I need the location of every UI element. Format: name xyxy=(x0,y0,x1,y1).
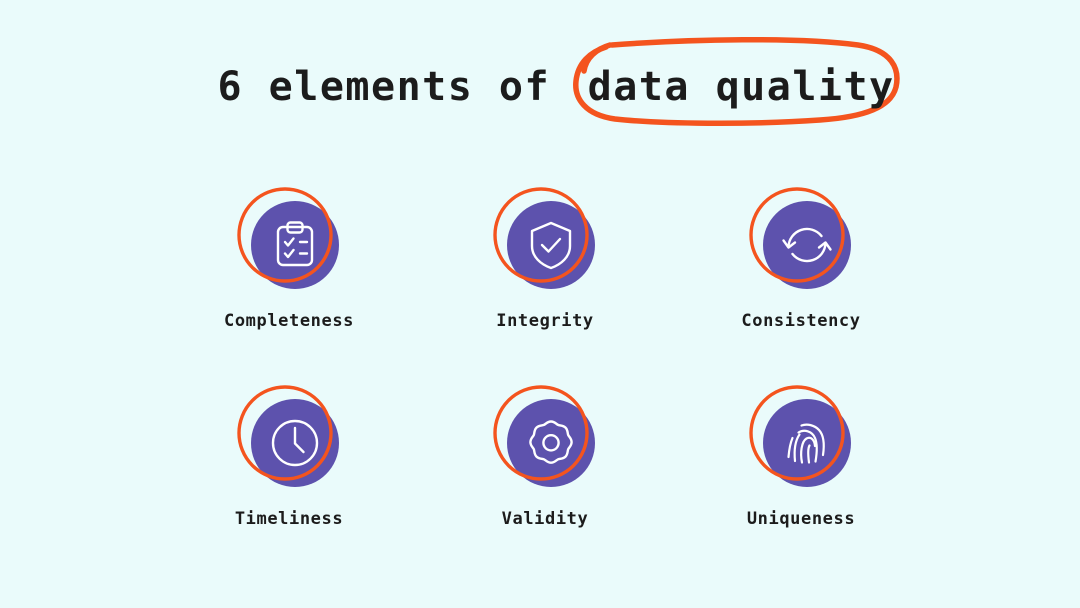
element-card-integrity[interactable]: Integrity xyxy=(417,170,673,368)
badge-completeness xyxy=(234,184,344,294)
refresh-cycle-arrows-icon xyxy=(763,201,851,289)
badge-validity xyxy=(490,382,600,492)
badge-integrity xyxy=(490,184,600,294)
element-label: Uniqueness xyxy=(747,509,855,529)
badge-uniqueness xyxy=(746,382,856,492)
elements-row-2: Timeliness Validity xyxy=(0,368,1080,566)
badge-timeliness xyxy=(234,382,344,492)
element-card-consistency[interactable]: Consistency xyxy=(673,170,929,368)
page-title: 6 elements of data quality xyxy=(64,44,909,130)
element-card-timeliness[interactable]: Timeliness xyxy=(161,368,417,566)
slide-canvas: 6 elements of data quality xyxy=(0,0,1080,608)
shield-check-icon xyxy=(507,201,595,289)
clock-icon xyxy=(251,399,339,487)
element-label: Validity xyxy=(502,509,589,529)
elements-row-1: Completeness Integrity xyxy=(0,170,1080,368)
element-label: Completeness xyxy=(224,311,354,331)
element-card-uniqueness[interactable]: Uniqueness xyxy=(673,368,929,566)
title-highlight-group: data quality xyxy=(576,67,909,107)
clipboard-checklist-icon xyxy=(251,201,339,289)
element-card-completeness[interactable]: Completeness xyxy=(161,170,417,368)
title-prefix: 6 elements of xyxy=(218,67,576,107)
gear-icon xyxy=(507,399,595,487)
element-card-validity[interactable]: Validity xyxy=(417,368,673,566)
elements-grid: Completeness Integrity xyxy=(0,170,1080,566)
title-highlight: data quality xyxy=(588,64,895,110)
fingerprint-icon xyxy=(763,399,851,487)
element-label: Timeliness xyxy=(235,509,343,529)
badge-consistency xyxy=(746,184,856,294)
element-label: Integrity xyxy=(496,311,594,331)
element-label: Consistency xyxy=(741,311,860,331)
